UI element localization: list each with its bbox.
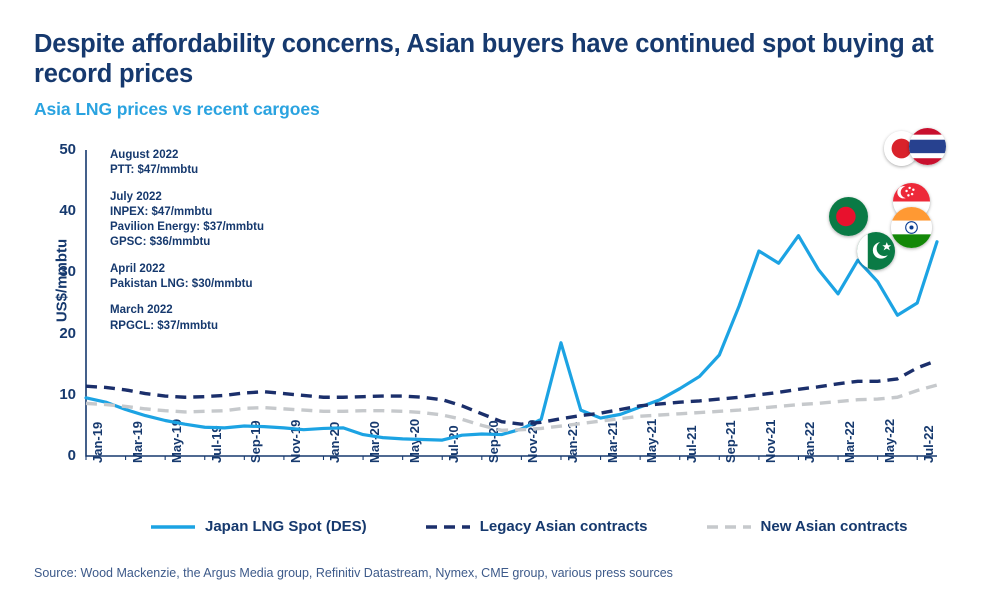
y-tick-label-0: 0 xyxy=(42,448,76,463)
annotation-entry: Pavilion Energy: $37/mmbtu xyxy=(110,220,264,235)
legend-swatch xyxy=(425,520,471,534)
x-tick-label-jan-21: Jan-21 xyxy=(566,422,579,463)
legend-item[interactable]: Legacy Asian contracts xyxy=(425,518,648,535)
annotation-entry: PTT: $47/mmbtu xyxy=(110,163,264,178)
x-tick-label-mar-21: Mar-21 xyxy=(606,421,619,463)
x-tick-label-mar-20: Mar-20 xyxy=(368,421,381,463)
y-tick-label-30: 30 xyxy=(42,264,76,279)
annotation-entry: GPSC: $36/mmbtu xyxy=(110,235,264,250)
x-tick-label-sep-20: Sep-20 xyxy=(487,420,500,463)
annotation-group: August 2022PTT: $47/mmbtu xyxy=(110,148,264,179)
y-tick-label-50: 50 xyxy=(42,142,76,157)
series-line-legacy-asian-contracts xyxy=(86,361,937,425)
annotation-date: March 2022 xyxy=(110,303,264,318)
annotation-date: April 2022 xyxy=(110,262,264,277)
x-tick-label-nov-21: Nov-21 xyxy=(764,420,777,463)
legend-label: New Asian contracts xyxy=(761,518,908,535)
x-tick-label-jul-22: Jul-22 xyxy=(922,425,935,463)
legend-label: Legacy Asian contracts xyxy=(480,518,648,535)
legend-item[interactable]: New Asian contracts xyxy=(706,518,908,535)
legend-swatch xyxy=(706,520,752,534)
x-tick-label-sep-19: Sep-19 xyxy=(249,420,262,463)
annotation-group: April 2022Pakistan LNG: $30/mmbtu xyxy=(110,262,264,293)
bangladesh-flag-badge xyxy=(829,197,868,236)
x-tick-label-mar-22: Mar-22 xyxy=(843,421,856,463)
annotation-entry: RPGCL: $37/mmbtu xyxy=(110,319,264,334)
x-tick-label-may-21: May-21 xyxy=(645,419,658,463)
pakistan-flag-badge xyxy=(857,232,895,270)
x-tick-label-jul-19: Jul-19 xyxy=(210,425,223,463)
x-tick-label-mar-19: Mar-19 xyxy=(131,421,144,463)
y-tick-label-20: 20 xyxy=(42,326,76,341)
chart-page: Despite affordability concerns, Asian bu… xyxy=(0,0,1000,600)
x-tick-label-nov-19: Nov-19 xyxy=(289,420,302,463)
x-tick-label-jul-21: Jul-21 xyxy=(685,425,698,463)
thailand-flag-badge xyxy=(909,128,946,165)
source-note: Source: Wood Mackenzie, the Argus Media … xyxy=(34,566,673,580)
annotation-group: July 2022INPEX: $47/mmbtuPavilion Energy… xyxy=(110,190,264,251)
x-tick-label-may-19: May-19 xyxy=(170,419,183,463)
legend-item[interactable]: Japan LNG Spot (DES) xyxy=(150,518,367,535)
x-tick-label-jan-22: Jan-22 xyxy=(803,422,816,463)
annotation-date: July 2022 xyxy=(110,190,264,205)
legend-swatch xyxy=(150,520,196,534)
annotation-entry: INPEX: $47/mmbtu xyxy=(110,205,264,220)
annotation-group: March 2022RPGCL: $37/mmbtu xyxy=(110,303,264,334)
india-flag-badge xyxy=(891,207,932,248)
x-tick-label-sep-21: Sep-21 xyxy=(724,420,737,463)
page-title: Despite affordability concerns, Asian bu… xyxy=(34,30,934,90)
chart-subtitle: Asia LNG prices vs recent cargoes xyxy=(34,99,934,120)
annotation-entry: Pakistan LNG: $30/mmbtu xyxy=(110,277,264,292)
chart-header: Despite affordability concerns, Asian bu… xyxy=(34,30,934,120)
x-tick-label-may-20: May-20 xyxy=(408,419,421,463)
x-tick-label-may-22: May-22 xyxy=(883,419,896,463)
annotation-date: August 2022 xyxy=(110,148,264,163)
y-tick-label-40: 40 xyxy=(42,203,76,218)
chart-legend: Japan LNG Spot (DES)Legacy Asian contrac… xyxy=(150,518,870,535)
x-tick-label-jan-20: Jan-20 xyxy=(328,422,341,463)
x-tick-label-jul-20: Jul-20 xyxy=(447,425,460,463)
x-tick-label-jan-19: Jan-19 xyxy=(91,422,104,463)
legend-label: Japan LNG Spot (DES) xyxy=(205,518,367,535)
x-tick-label-nov-20: Nov-20 xyxy=(526,420,539,463)
y-tick-label-10: 10 xyxy=(42,387,76,402)
annotation-block: August 2022PTT: $47/mmbtuJuly 2022INPEX:… xyxy=(110,148,264,334)
